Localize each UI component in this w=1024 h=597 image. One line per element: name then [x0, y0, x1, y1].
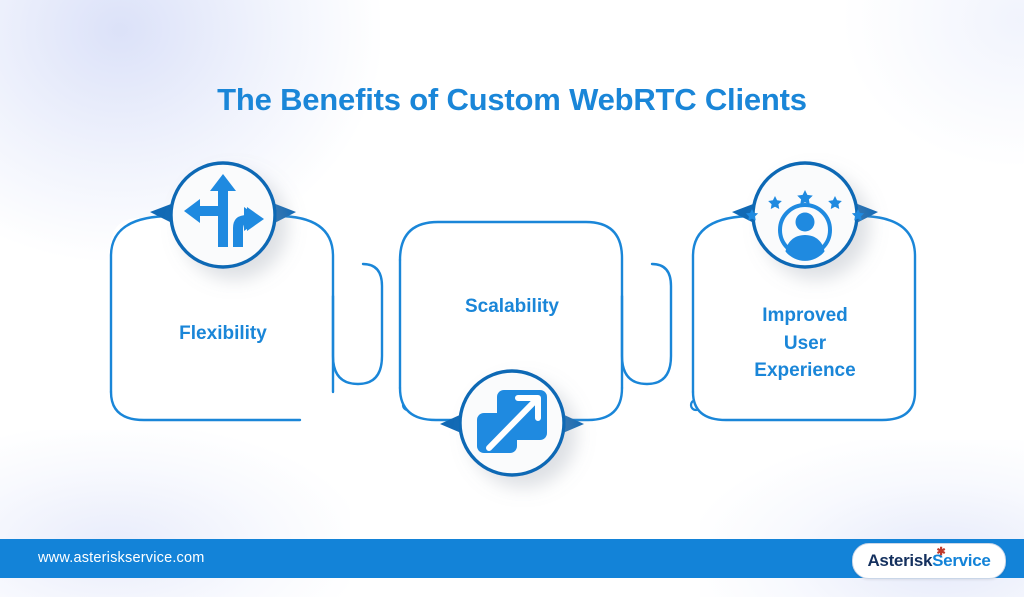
connector-1-seg-a [333, 264, 382, 384]
connector-2-seg-a [622, 264, 671, 384]
brand-logo[interactable]: AsteriskService ✱ [852, 543, 1006, 579]
card-label-scalability: Scalability [397, 293, 627, 321]
card-flexibility[interactable] [110, 163, 333, 420]
page-title: The Benefits of Custom WebRTC Clients [0, 82, 1024, 118]
brand-logo-text: AsteriskService ✱ [867, 551, 990, 571]
card-label-improved-user-experience: Improved User Experience [690, 302, 920, 385]
footer-website-url[interactable]: www.asteriskservice.com [38, 550, 205, 566]
brand-logo-part1: Asterisk [867, 551, 932, 570]
card-scalability[interactable] [400, 220, 622, 475]
infographic-canvas: The Benefits of Custom WebRTC Clients Fl… [0, 0, 1024, 597]
asterisk-mark-icon: ✱ [936, 547, 945, 558]
card-label-flexibility: Flexibility [108, 320, 338, 348]
